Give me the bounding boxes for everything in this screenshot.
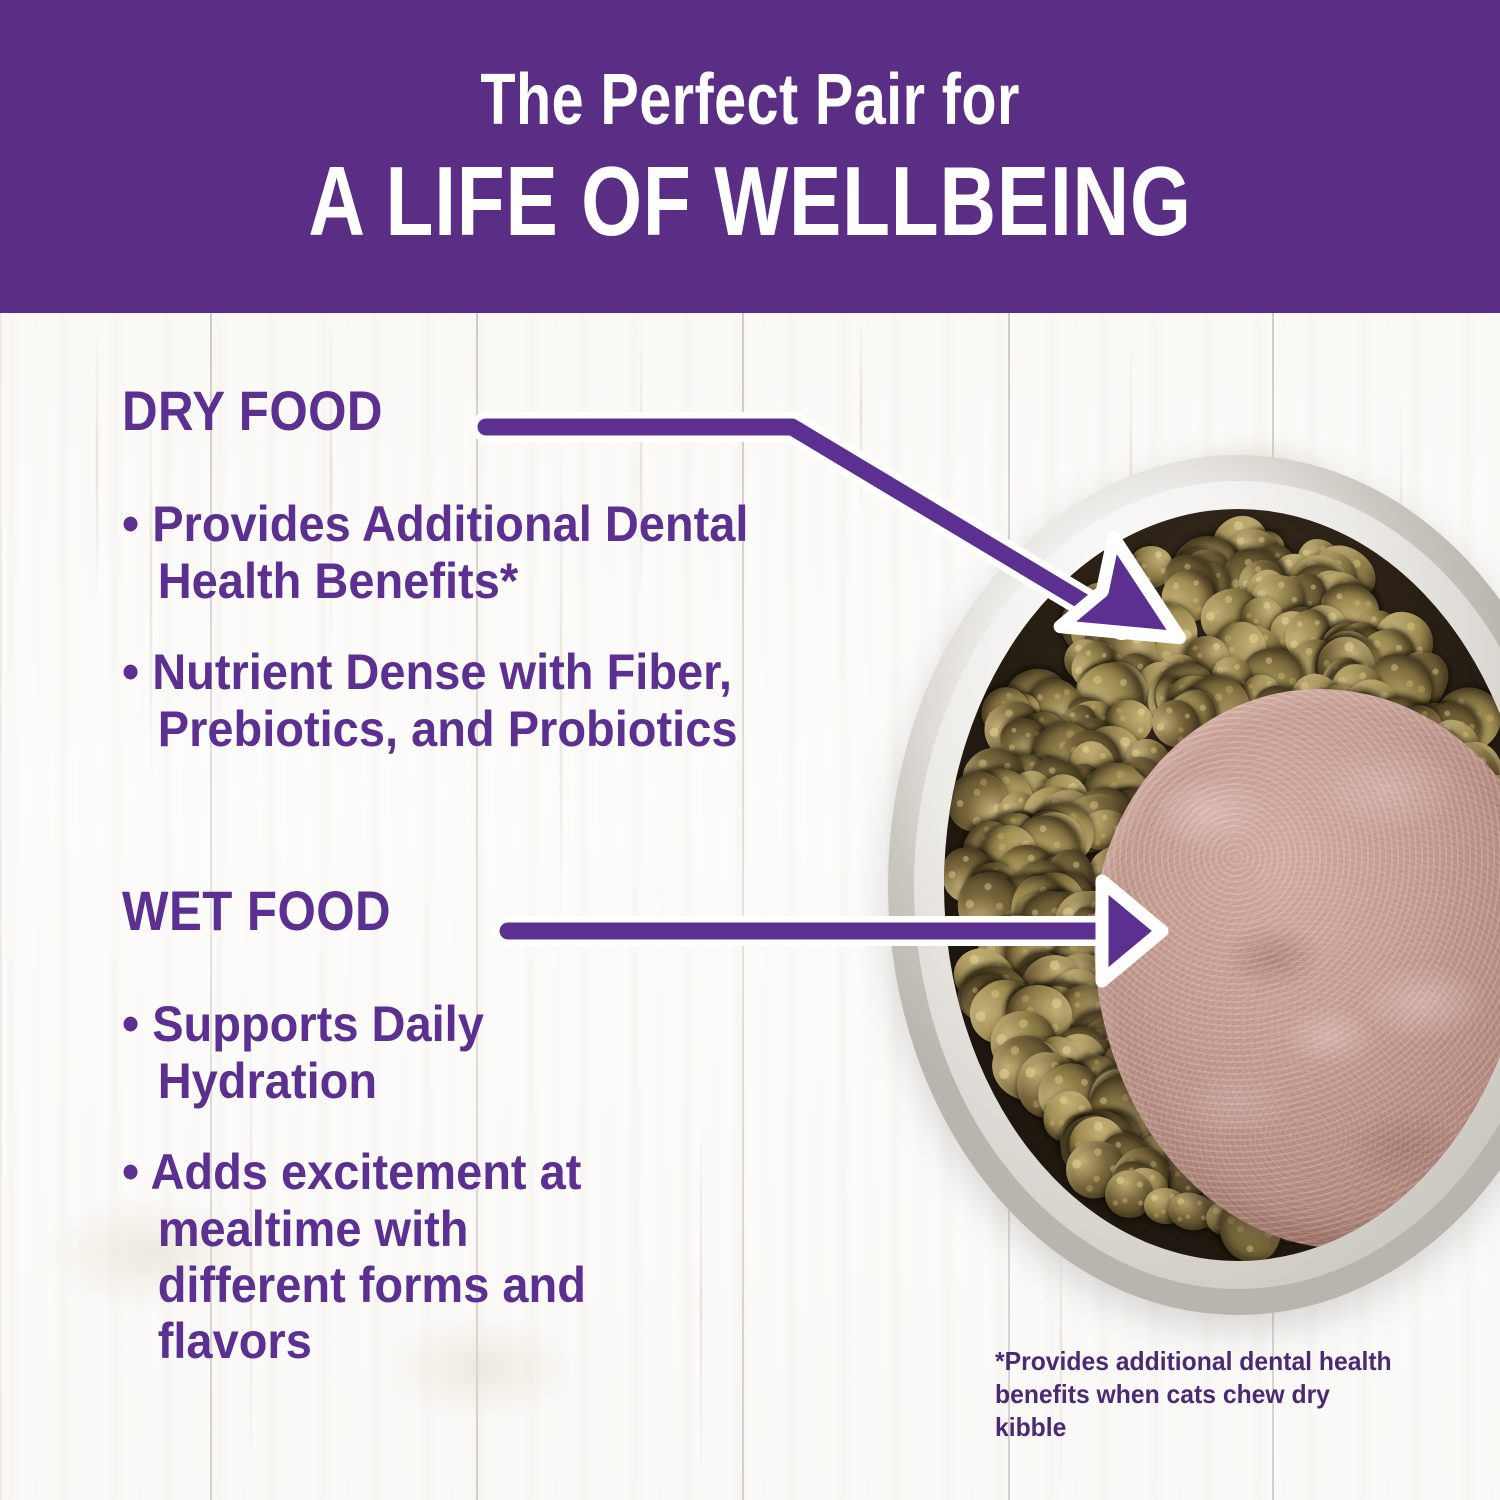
bowl-contents xyxy=(944,509,1500,1261)
bullet-text: Adds excitement at mealtime with differe… xyxy=(150,1144,586,1369)
list-item: • Supports Daily Hydration xyxy=(122,995,648,1109)
list-item: • Nutrient Dense with Fiber, Prebiotics,… xyxy=(122,643,780,757)
bullet-text: Supports Daily Hydration xyxy=(152,996,484,1109)
wet-food-bullet-list: • Supports Daily Hydration • Adds excite… xyxy=(122,961,682,1369)
bullet-text: Nutrient Dense with Fiber, Prebiotics, a… xyxy=(152,644,737,757)
header-banner: The Perfect Pair for A LIFE OF WELLBEING xyxy=(0,0,1500,313)
list-item: • Adds excitement at mealtime with diffe… xyxy=(122,1143,648,1369)
footnote-disclaimer: *Provides additional dental health benef… xyxy=(995,1345,1404,1443)
promo-canvas: The Perfect Pair for A LIFE OF WELLBEING xyxy=(0,0,1500,1500)
food-bowl-image xyxy=(888,455,1500,1320)
bullet-dot: • xyxy=(122,643,139,701)
bullet-text: Provides Additional Dental Health Benefi… xyxy=(152,496,748,609)
bullet-dot: • xyxy=(122,495,139,553)
bullet-dot: • xyxy=(122,995,139,1053)
wet-pate-mound xyxy=(1094,689,1500,1249)
header-title-line2: A LIFE OF WELLBEING xyxy=(308,152,1191,250)
bullet-dot: • xyxy=(122,1143,139,1201)
section-heading-dry-food: DRY FOOD xyxy=(122,383,383,439)
wood-grain xyxy=(860,313,862,513)
wood-grain xyxy=(700,1113,702,1493)
header-title-line1: The Perfect Pair for xyxy=(480,64,1019,136)
wood-grain xyxy=(96,323,98,603)
section-heading-wet-food: WET FOOD xyxy=(122,883,391,939)
dry-food-bullet-list: • Provides Additional Dental Health Bene… xyxy=(122,461,822,757)
list-item: • Provides Additional Dental Health Bene… xyxy=(122,495,780,609)
